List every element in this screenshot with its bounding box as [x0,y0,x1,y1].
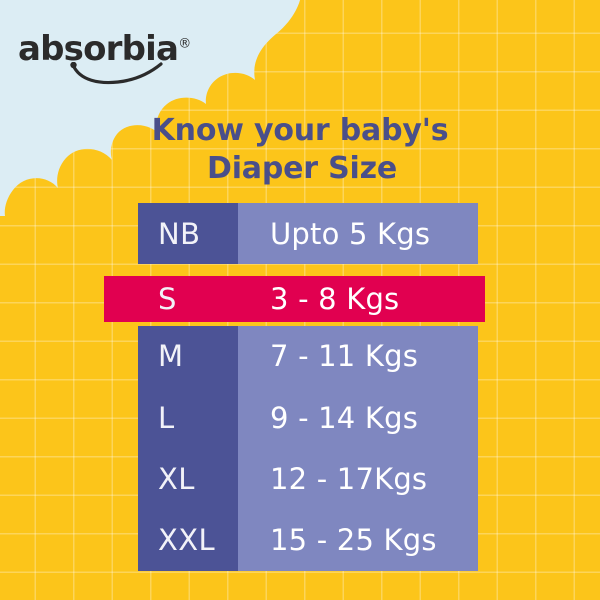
highlighted-size-row: S 3 - 8 Kgs [104,276,485,322]
diaper-size-infographic: absorbia® Know your baby's Diaper Size N… [0,0,600,600]
logo-wordmark: absorbia® [18,32,191,66]
size-label-cell: XXL [138,510,238,571]
weight-range-cell: 9 - 14 Kgs [238,387,478,448]
size-label-cell: M [138,326,238,387]
table-row: XL 12 - 17Kgs [138,448,478,509]
table-row: NB Upto 5 Kgs [138,203,478,264]
page-title-line-1: Know your baby's [0,112,600,150]
registered-trademark-icon: ® [178,37,191,52]
smile-swoosh-icon [70,62,165,86]
size-label-cell: L [138,387,238,448]
weight-range-cell: 7 - 11 Kgs [238,326,478,387]
table-row: XXL 15 - 25 Kgs [138,510,478,571]
weight-range-cell: 15 - 25 Kgs [238,510,478,571]
size-label-cell: XL [138,448,238,509]
brand-logo: absorbia® [18,28,218,90]
highlighted-weight-range: 3 - 8 Kgs [238,276,485,322]
page-title: Know your baby's Diaper Size [0,112,600,189]
weight-range-cell: 12 - 17Kgs [238,448,478,509]
size-chart-table: NB Upto 5 Kgs S 3 - 8 Kgs M 7 - 11 Kgs L… [138,203,478,571]
page-title-line-2: Diaper Size [4,150,600,188]
highlighted-size-label: S [104,276,238,322]
table-row: L 9 - 14 Kgs [138,387,478,448]
size-label-cell: NB [138,203,238,264]
table-row: M 7 - 11 Kgs [138,326,478,387]
weight-range-cell: Upto 5 Kgs [238,203,478,264]
